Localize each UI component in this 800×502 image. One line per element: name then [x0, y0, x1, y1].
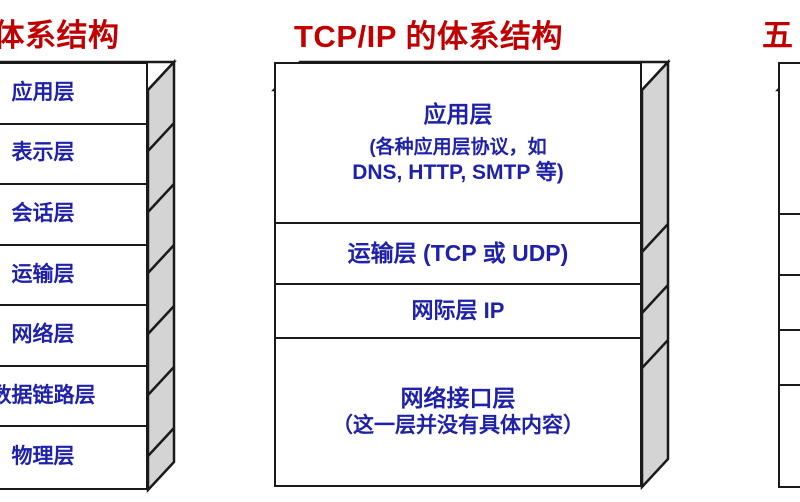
osi-layer-data-link[interactable]: 数据链路层 [0, 367, 146, 428]
layer-label: 数据链路层 [0, 384, 96, 409]
layer-label: 运输层 (TCP 或 UDP) [348, 240, 569, 267]
tcpip-layer-application[interactable]: 应用层 (各种应用层协议，如 DNS, HTTP, SMTP 等) [276, 64, 640, 224]
diagram-canvas: 的体系结构 应用层 表示层 会话层 运输层 [0, 0, 800, 500]
layer-label: 会话层 [12, 202, 75, 227]
osi-title: 的体系结构 [0, 20, 120, 51]
layer-label: 表示层 [12, 141, 75, 166]
five-layer-layer-3[interactable] [780, 276, 800, 331]
five-layer-layer-5[interactable] [780, 386, 800, 486]
five-layer-title: 五 [762, 20, 794, 51]
layer-label: 物理层 [12, 445, 75, 470]
tcpip-layer-transport[interactable]: 运输层 (TCP 或 UDP) [276, 224, 640, 284]
layer-label: 网际层 IP [412, 298, 505, 324]
layer-sublabel: （这一层并没有具体内容） [332, 414, 584, 439]
osi-layer-list: 应用层 表示层 会话层 运输层 网络层 数据链路层 物理层 [0, 62, 148, 490]
layer-sublabel-line1: (各种应用层协议，如 [369, 137, 546, 159]
osi-layer-network[interactable]: 网络层 [0, 306, 146, 367]
osi-layer-physical[interactable]: 物理层 [0, 427, 146, 488]
osi-layer-presentation[interactable]: 表示层 [0, 125, 146, 186]
tcpip-layer-network-interface[interactable]: 网络接口层 （这一层并没有具体内容） [276, 339, 640, 485]
tcpip-title: TCP/IP 的体系结构 [294, 21, 563, 52]
layer-label: 运输层 [12, 263, 75, 288]
layer-label: 应用层 [12, 81, 75, 106]
five-layer-layer-4[interactable] [780, 331, 800, 386]
layer-label: 网络接口层 [401, 385, 516, 412]
osi-layer-session[interactable]: 会话层 [0, 185, 146, 246]
tcpip-layer-list: 应用层 (各种应用层协议，如 DNS, HTTP, SMTP 等) 运输层 (T… [274, 62, 642, 487]
layer-label: 网络层 [12, 323, 75, 348]
osi-layer-application[interactable]: 应用层 [0, 64, 146, 125]
osi-layer-transport[interactable]: 运输层 [0, 246, 146, 307]
five-layer-layer-list [778, 62, 800, 488]
five-layer-layer-1[interactable] [780, 64, 800, 215]
tcpip-layer-internet[interactable]: 网际层 IP [276, 285, 640, 340]
layer-label: 应用层 [424, 101, 493, 128]
layer-sublabel-line2: DNS, HTTP, SMTP 等) [352, 161, 564, 186]
five-layer-layer-2[interactable] [780, 215, 800, 276]
